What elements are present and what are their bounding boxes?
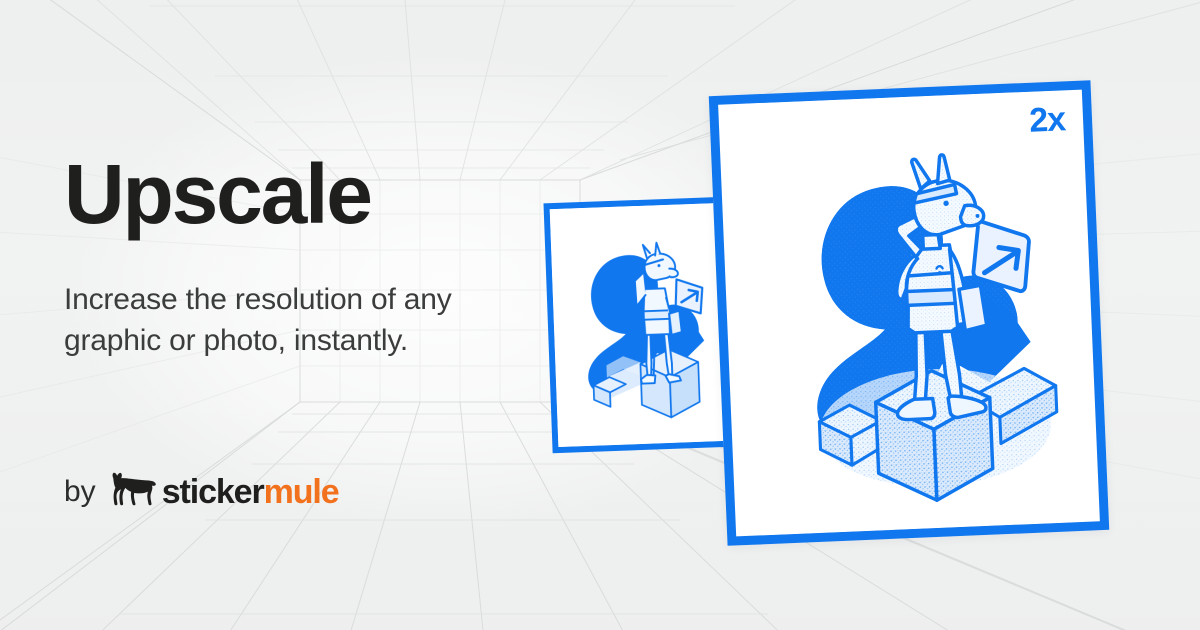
brand-word-sticker: sticker — [162, 473, 264, 511]
brand-lockup: by stickermule — [64, 472, 339, 511]
mule-silhouette-icon — [111, 472, 157, 511]
page-title: Upscale — [64, 152, 534, 236]
low-res-card[interactable] — [543, 197, 734, 454]
stickermule-logo[interactable]: stickermule — [111, 472, 339, 511]
high-res-card[interactable]: 2x — [709, 80, 1110, 546]
brand-wordmark: stickermule — [162, 475, 339, 509]
brand-by-label: by — [64, 477, 96, 507]
low-res-card-artwork — [550, 203, 729, 447]
scale-factor-badge: 2x — [1029, 102, 1066, 137]
brand-word-mule: mule — [264, 473, 339, 511]
promo-banner: Upscale Increase the resolution of any g… — [0, 0, 1200, 630]
hero-copy: Upscale Increase the resolution of any g… — [64, 152, 534, 362]
page-subtitle: Increase the resolution of any graphic o… — [64, 280, 494, 362]
high-res-card-artwork — [718, 90, 1100, 537]
